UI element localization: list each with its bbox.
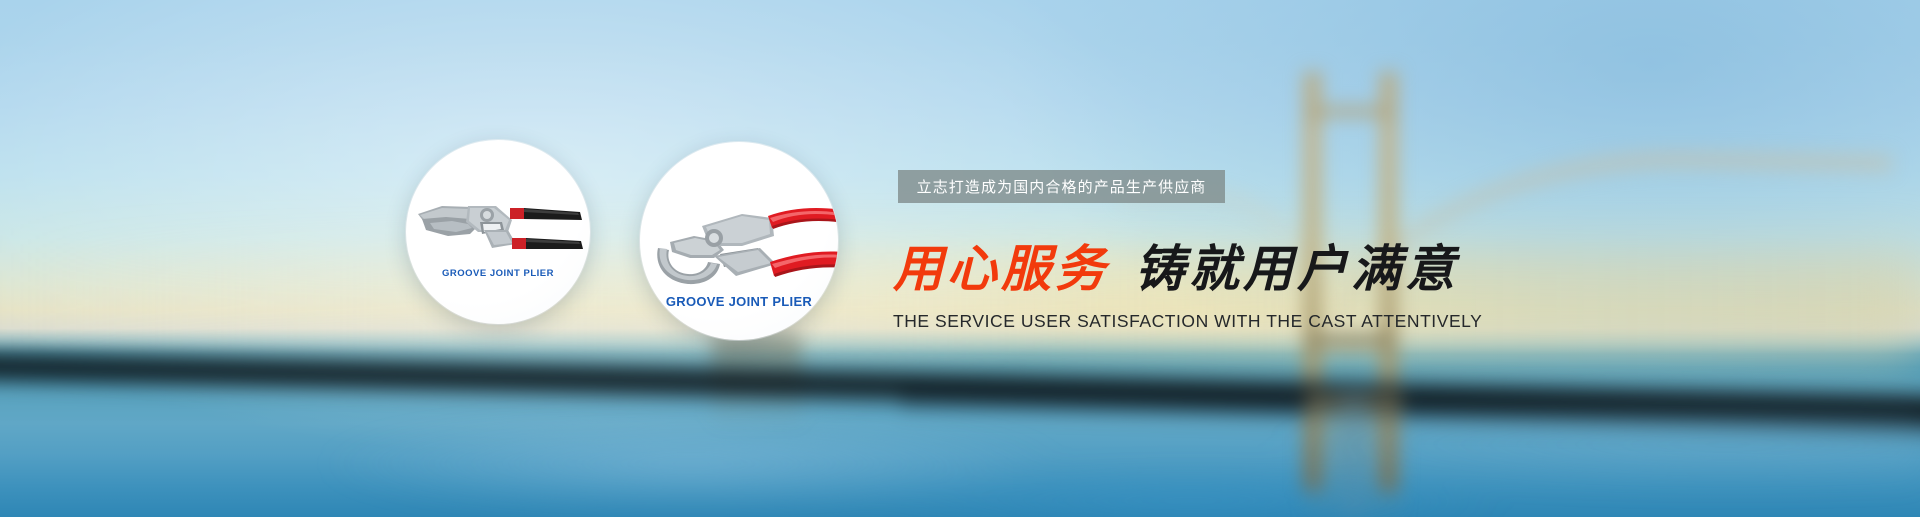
headline-accent: 用心服务 xyxy=(893,239,1109,298)
headline-main: 铸就用户满意 xyxy=(1135,239,1459,298)
groove-joint-plier-red-handle-icon xyxy=(650,192,838,296)
water-surface-sheen xyxy=(0,396,1920,517)
product-label-1: GROOVE JOINT PLIER xyxy=(406,268,590,279)
tagline-text: 立志打造成为国内合格的产品生产供应商 xyxy=(917,176,1207,197)
headline: 用心服务铸就用户满意 xyxy=(893,244,1459,294)
bridge-tower-brace-upper xyxy=(1304,106,1397,117)
hero-banner: GROOVE JOINT PLIER xyxy=(0,0,1920,517)
tagline-bar: 立志打造成为国内合格的产品生产供应商 xyxy=(898,170,1225,203)
product-circle-1[interactable]: GROOVE JOINT PLIER xyxy=(406,140,590,324)
groove-joint-plier-black-handle-icon xyxy=(412,186,584,276)
product-circle-2[interactable]: GROOVE JOINT PLIER xyxy=(640,142,838,340)
subline-text: THE SERVICE USER SATISFACTION WITH THE C… xyxy=(893,311,1482,332)
product-label-2: GROOVE JOINT PLIER xyxy=(640,294,838,309)
